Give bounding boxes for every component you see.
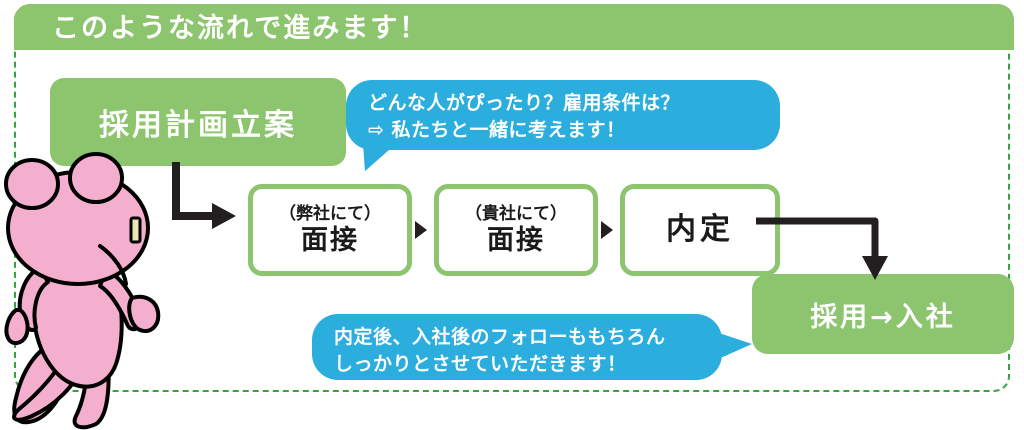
illustration-canvas: このような流れで進みます！ 採用計画立案 どんな人がぴったり？雇用条件は？ ⇨ … bbox=[0, 0, 1024, 430]
elbow-right-down-arrow-icon bbox=[756, 221, 888, 280]
mascot-pink-frog bbox=[0, 148, 202, 430]
